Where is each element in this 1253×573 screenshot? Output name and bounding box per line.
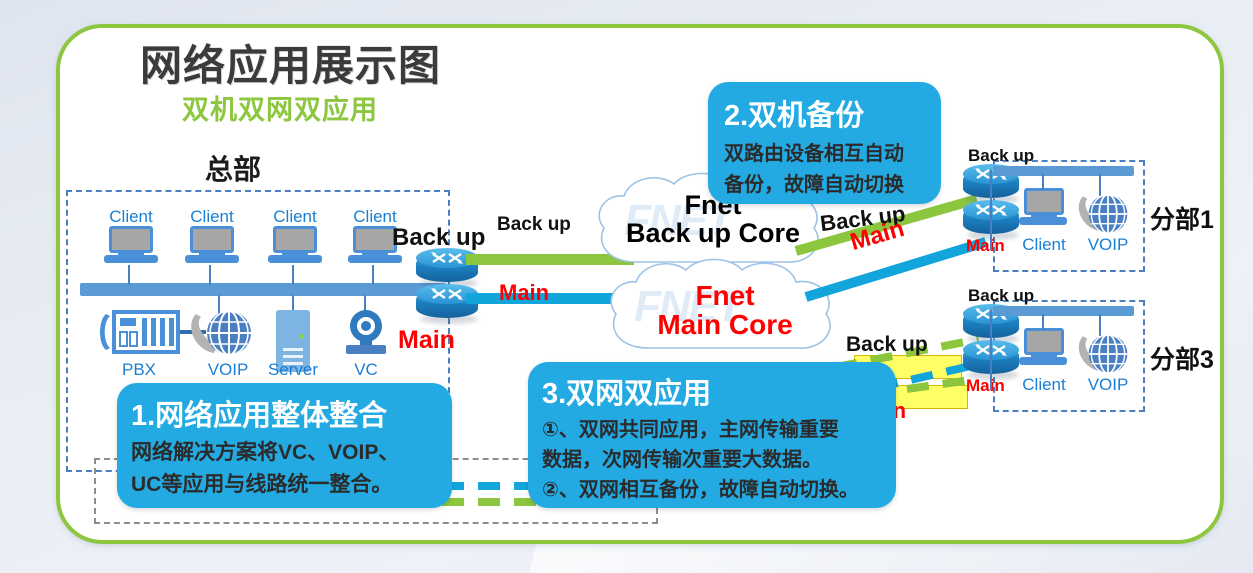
router-arrows-icon xyxy=(429,286,465,302)
branch3-client-label: Client xyxy=(1021,376,1067,393)
callout-2[interactable]: 2.双机备份 双路由设备相互自动 备份，故障自动切换 xyxy=(708,82,941,204)
hq-client-label-1: Client xyxy=(108,208,154,225)
branch3-router-uplink xyxy=(990,310,992,390)
router-arrows-icon xyxy=(429,250,465,266)
laptop-base xyxy=(268,255,322,263)
branch3-client-laptop[interactable] xyxy=(1019,328,1067,368)
callout-1-line-2: UC等应用与线路统一整合。 xyxy=(131,468,452,498)
backup-core-line2: Back up Core xyxy=(626,218,800,248)
callout-1-line-1: 网络解决方案将VC、VOIP、 xyxy=(131,436,452,466)
hq-server-link xyxy=(292,295,294,311)
callout-2-line-2: 备份，故障自动切换 xyxy=(724,168,941,197)
callout-3-line-2: 数据，次网传输次重要大数据。 xyxy=(542,443,896,472)
laptop-screen-icon xyxy=(190,226,234,253)
callout-3-line-3: ②、双网相互备份，故障自动切换。 xyxy=(542,473,896,502)
callout-3-line-1: ①、双网共同应用，主网传输重要 xyxy=(542,413,896,442)
hq-client-link-1 xyxy=(128,265,130,285)
hq-client-label-4: Client xyxy=(352,208,398,225)
branch1-client-label: Client xyxy=(1021,236,1067,253)
voip-label: VOIP xyxy=(202,360,254,380)
branch3-voip-label: VOIP xyxy=(1085,376,1131,393)
link-hq-core-backup-label: Back up xyxy=(497,214,571,236)
branch3-router-main-label: Main xyxy=(966,376,1005,396)
server-vent xyxy=(283,355,303,358)
globe-icon[interactable] xyxy=(1086,332,1130,376)
page-title: 网络应用展示图 xyxy=(140,32,441,93)
hq-client-laptop-2[interactable] xyxy=(185,226,239,266)
hq-client-laptop-3[interactable] xyxy=(268,226,322,266)
headquarters-title: 总部 xyxy=(205,148,261,188)
vc-label: VC xyxy=(340,360,392,380)
main-core-line1: Fnet xyxy=(695,280,754,311)
link-core-b3-backup-label: Back up xyxy=(846,333,928,357)
callout-1[interactable]: 1.网络应用整体整合 网络解决方案将VC、VOIP、 UC等应用与线路统一整合。 xyxy=(117,383,452,508)
laptop-base xyxy=(1019,217,1067,225)
pbx-label: PBX xyxy=(113,360,165,380)
laptop-screen-icon xyxy=(109,226,153,253)
page-subtitle: 双机双网双应用 xyxy=(182,88,378,127)
globe-icon[interactable] xyxy=(1086,192,1130,236)
laptop-screen-icon xyxy=(1024,188,1064,215)
hq-client-link-2 xyxy=(209,265,211,285)
callout-3[interactable]: 3.双网双应用 ①、双网共同应用，主网传输重要 数据，次网传输次重要大数据。 ②… xyxy=(528,362,896,508)
main-core-label: Fnet Main Core xyxy=(620,282,830,339)
laptop-screen-icon xyxy=(273,226,317,253)
hq-client-link-3 xyxy=(292,265,294,285)
branch1-router-backup-label: Back up xyxy=(968,146,1034,166)
server-status-led xyxy=(299,334,304,339)
branch1-client-laptop[interactable] xyxy=(1019,188,1067,228)
pbx-icon[interactable] xyxy=(96,308,182,356)
laptop-base xyxy=(1019,357,1067,365)
branch1-router-uplink xyxy=(990,170,992,250)
branch1-title: 分部1 xyxy=(1150,200,1214,236)
laptop-screen-icon xyxy=(1024,328,1064,355)
callout-3-heading: 3.双网双应用 xyxy=(542,370,896,412)
branch1-client-link xyxy=(1042,174,1044,190)
server-label: Server xyxy=(267,360,319,380)
link-hq-core-main-label: Main xyxy=(499,280,549,306)
branch3-title: 分部3 xyxy=(1150,340,1214,376)
hq-client-label-3: Client xyxy=(272,208,318,225)
callout-2-line-1: 双路由设备相互自动 xyxy=(724,137,941,166)
hq-router-main-label: Main xyxy=(398,326,455,355)
branch3-router-backup-label: Back up xyxy=(968,286,1034,306)
server-vent xyxy=(283,348,303,351)
hq-client-laptop-1[interactable] xyxy=(104,226,158,266)
branch1-router-main-label: Main xyxy=(966,236,1005,256)
laptop-base xyxy=(348,255,402,263)
main-core-line2: Main Core xyxy=(657,309,792,340)
laptop-base xyxy=(104,255,158,263)
headquarters-bus xyxy=(80,283,446,296)
hq-router-main[interactable] xyxy=(416,284,478,324)
hq-client-link-4 xyxy=(372,265,374,285)
globe-icon[interactable] xyxy=(204,308,252,356)
branch1-bus xyxy=(993,166,1134,176)
network-diagram-canvas: 网络应用展示图 双机双网双应用 总部 Client Client Client xyxy=(0,0,1253,573)
diagram-content-clip: 网络应用展示图 双机双网双应用 总部 Client Client Client xyxy=(56,24,1216,536)
laptop-screen-icon xyxy=(353,226,397,253)
video-conference-camera-icon[interactable] xyxy=(338,308,392,358)
laptop-base xyxy=(185,255,239,263)
branch3-bus xyxy=(993,306,1134,316)
branch1-voip-label: VOIP xyxy=(1085,236,1131,253)
callout-2-heading: 2.双机备份 xyxy=(724,92,941,134)
hq-client-label-2: Client xyxy=(189,208,235,225)
branch3-client-link xyxy=(1042,314,1044,330)
callout-1-heading: 1.网络应用整体整合 xyxy=(131,392,452,434)
